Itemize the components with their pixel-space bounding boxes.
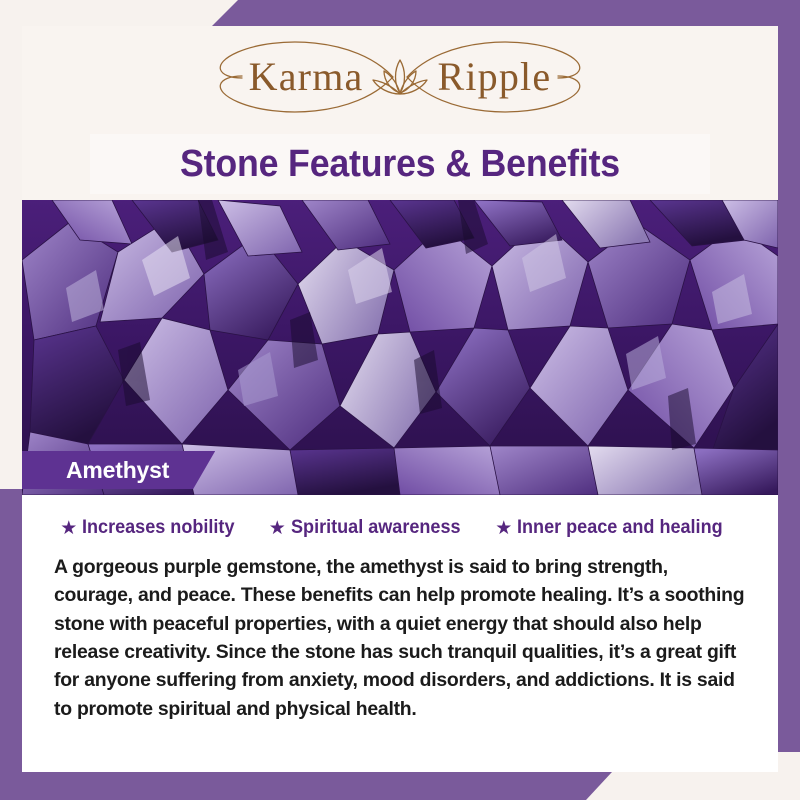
page-title: Stone Features & Benefits [180,143,620,186]
stone-name: Amethyst [66,457,169,484]
benefit-item: ★ Increases nobility [60,517,243,539]
benefit-item: ★ Spiritual awareness [269,517,470,539]
brand-header: Karma Ripple [22,26,778,128]
title-plate: Stone Features & Benefits [90,134,710,194]
description-panel: ★ Increases nobility ★ Spiritual awarene… [22,495,778,772]
benefit-label: Spiritual awareness [291,517,461,539]
benefits-list: ★ Increases nobility ★ Spiritual awarene… [40,517,754,539]
title-band: Stone Features & Benefits [22,128,778,200]
amethyst-crystal-illustration [22,200,778,495]
brand-name-right: Ripple [437,57,551,97]
lotus-icon [369,54,431,100]
star-icon: ★ [495,519,512,538]
brand-name-left: Karma [249,57,364,97]
brand-wordmark: Karma Ripple [249,54,552,100]
star-icon: ★ [269,519,286,538]
frame-left-strip [0,489,22,800]
stone-name-banner: Amethyst [22,451,215,489]
benefit-label: Increases nobility [82,517,234,539]
description-text: A gorgeous purple gemstone, the amethyst… [40,553,754,723]
benefit-label: Inner peace and healing [517,517,723,539]
content-card: Karma Ripple Stone [22,26,778,772]
brand-logo: Karma Ripple [180,34,620,120]
benefit-item: ★ Inner peace and healing [495,517,734,539]
frame-top-bar [212,0,800,26]
stone-photo: Amethyst [22,200,778,495]
star-icon: ★ [60,519,77,538]
stone-benefits-infographic: Karma Ripple Stone [0,0,800,800]
frame-right-strip [778,0,800,752]
frame-bottom-bar [0,772,612,800]
